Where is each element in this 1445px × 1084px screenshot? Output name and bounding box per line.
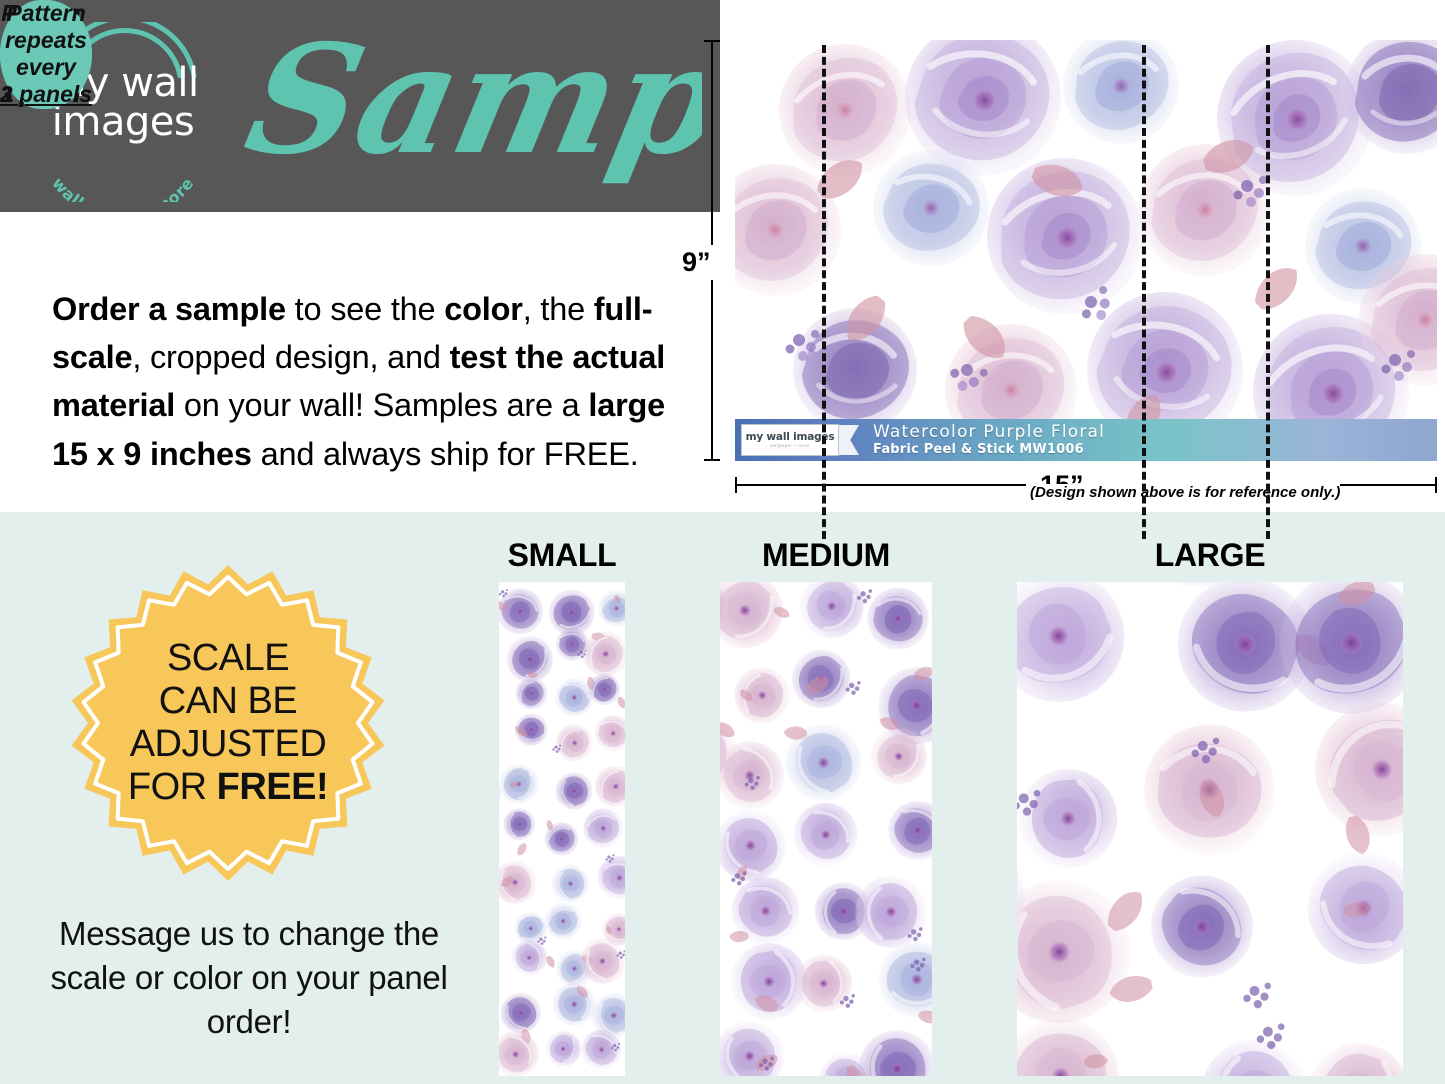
order-description: Order a sample to see the color, the ful… [52,285,676,479]
panel-divider-large-2 [1266,45,1270,539]
bubble-large-line-2: repeats [5,27,87,54]
repeat-bubble-large: Pattern repeats every 3 panels [0,0,92,109]
header-bar: my wall images wallpaper + more Samples [0,0,720,212]
sample-material-code: Fabric Peel & Stick MW1006 [873,443,1105,457]
scale-title-medium: MEDIUM [720,537,932,574]
watercolor-floral-pattern [1017,582,1403,1076]
order-copy-segment-9: and always ship for FREE. [252,436,639,472]
samples-script-text: Samples [233,24,702,188]
watercolor-floral-pattern-large [735,40,1437,459]
sample-label-bar: my wall images wallpaper + more Watercol… [735,419,1437,461]
message-line-1: Message us to change [59,915,385,952]
reference-only-note: (Design shown above is for reference onl… [1026,484,1340,501]
order-copy-segment-1: to see the [286,291,444,327]
badge-line-1: SCALE [167,637,289,680]
logo-line-2: images [24,103,222,142]
order-copy-segment-2: color [444,291,522,327]
scale-title-large: LARGE [1017,537,1403,574]
watercolor-floral-pattern [720,582,932,1076]
order-copy-segment-5: , cropped design, and [132,339,449,375]
watercolor-floral-pattern [499,582,625,1076]
scale-swatch-medium [720,582,932,1076]
badge-line-2: CAN BE [159,680,297,723]
sample-preview-image [735,40,1437,459]
bubble-large-line-1: Pattern [6,0,85,27]
logo-tagline: wallpaper + more [32,142,214,202]
samples-script-title: Samples [232,24,702,194]
bubble-large-count: 3 panels [0,81,92,108]
panel-divider-medium [822,45,826,539]
chip-ribbon-tail [837,425,859,455]
message-us-copy: Message us to change the scale or color … [44,912,454,1044]
sample-design-name: Watercolor Purple Floral [873,423,1105,441]
badge-line-4-prefix: FOR [128,766,217,808]
chip-logo-tagline: wallpaper + more [770,443,809,448]
badge-free-word: FREE! [217,766,329,808]
svg-text:wallpaper + more: wallpaper + more [48,174,197,202]
panel-divider-large-1 [1142,45,1146,539]
bubble-large-line-3: every [16,54,76,81]
scale-swatch-small [499,582,625,1076]
order-copy-segment-3: , the [523,291,594,327]
badge-line-3: ADJUSTED [130,723,327,766]
height-dimension-label: 9” [678,245,715,280]
order-copy-segment-0: Order a sample [52,291,286,327]
scale-swatch-large [1017,582,1403,1076]
order-copy-segment-7: on your wall! Samples are a [175,387,588,423]
logo-tagline-text: wallpaper + more [48,174,197,202]
scale-title-small: SMALL [499,537,625,574]
scale-badge-text: SCALE CAN BE ADJUSTED FOR FREE! [68,563,388,883]
badge-line-4: FOR FREE! [128,766,328,809]
sample-label-text: Watercolor Purple Floral Fabric Peel & S… [873,423,1105,456]
